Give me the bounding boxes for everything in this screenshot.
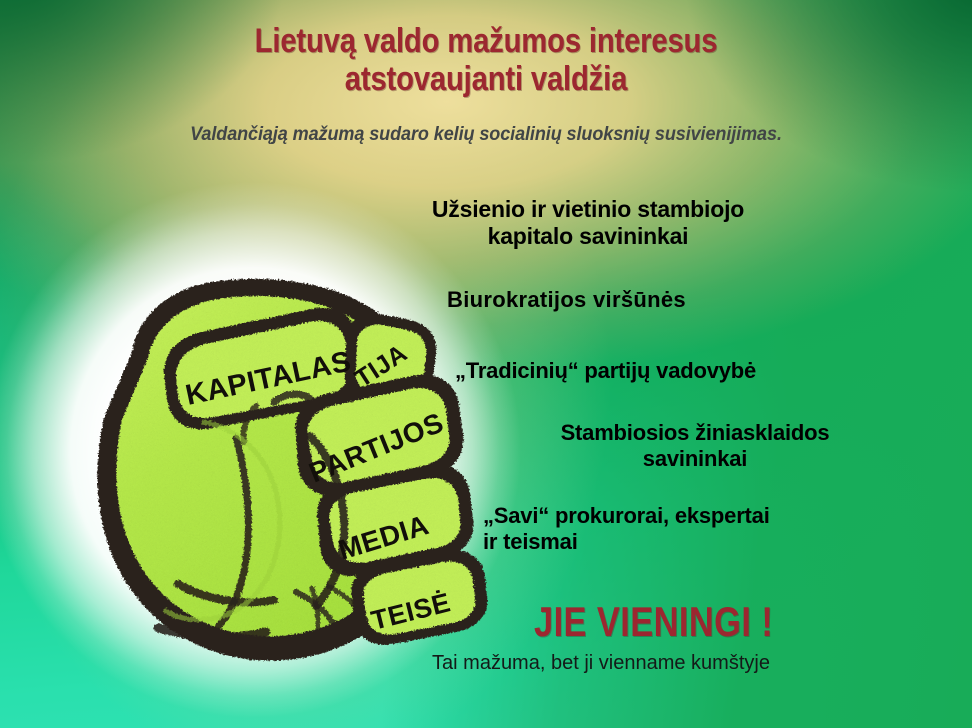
clenched-fist-illustration: KAPITALAS TIJA PARTIJOS MEDIA TEISĖ — [60, 240, 480, 670]
group-item-prosecutors: „Savi“ prokurorai, ekspertai ir teismai — [483, 503, 923, 555]
headline-line-1: Lietuvą valdo mažumos interesus — [255, 22, 718, 60]
group-item-media-owners: Stambiosios žiniasklaidos savininkai — [485, 420, 905, 472]
group-item-party-leadership: „Tradicinių“ partijų vadovybė — [455, 358, 915, 384]
group-item-capital-owners: Užsienio ir vietinio stambiojo kapitalo … — [368, 196, 808, 250]
poster-canvas: Lietuvą valdo mažumos interesus atstovau… — [0, 0, 972, 728]
poster-headline: Lietuvą valdo mažumos interesus atstovau… — [68, 22, 904, 98]
conclusion-kicker: Tai mažuma, bet ji vienname kumštyje — [0, 652, 972, 675]
headline-line-2: atstovaujanti valdžia — [68, 60, 904, 98]
group-item-bureaucracy-top: Biurokratijos viršūnės — [447, 287, 807, 313]
conclusion-shout: JIE VIENINGI ! — [534, 598, 773, 646]
poster-subtitle: Valdančiąją mažumą sudaro kelių socialin… — [24, 124, 947, 146]
